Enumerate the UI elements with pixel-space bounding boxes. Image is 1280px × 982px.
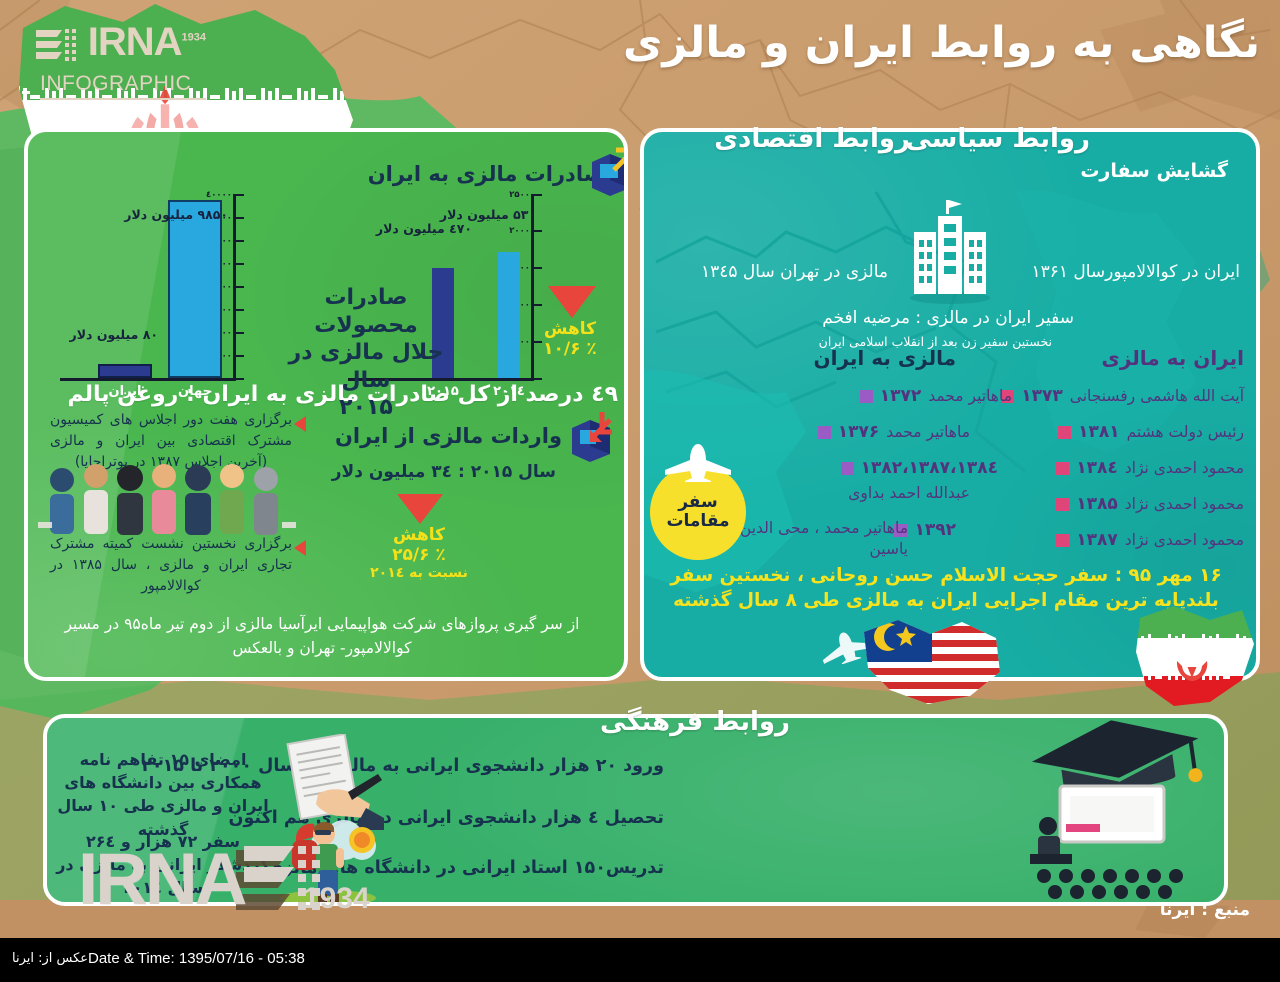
visit-row: ماهاتیر محمد ۱۳۷۲ <box>860 386 1012 406</box>
bar-iran-value: ۸۰ میلیون دلار <box>92 328 158 342</box>
column-title-malaysia-to-iran: مالزی به ایران <box>814 346 956 370</box>
culture-left-item-1: امضای ۱۵ تفاهم نامه همکاری بین دانشگاه ه… <box>52 748 274 841</box>
irna-wordmark-year: 1934 <box>182 32 206 44</box>
irna-infographic-logo: IRNA1934 <box>26 24 206 100</box>
airasia-flights-note: از سر گیری پروازهای شرکت هواپیمایی ایرآس… <box>62 612 582 660</box>
visit-marker-icon <box>841 462 854 475</box>
embassy-iran-in-kl: ایران در کوالالامپورسال ۱۳۶۱ <box>1031 262 1240 282</box>
embassy-opening-title: گشایش سفارت <box>1080 160 1228 182</box>
decrease-arrow-icon <box>544 284 600 324</box>
bar-world-value: ۹۸۵۰ میلیون دلار <box>162 208 228 222</box>
footer-irna-year: 1934 <box>303 882 370 916</box>
visit-person: محمود احمدی نژاد <box>1125 495 1244 513</box>
visit-marker-icon <box>1058 426 1071 439</box>
visit-person: محمود احمدی نژاد <box>1125 531 1244 549</box>
visit-year: ۱۳۸۵ <box>1076 494 1118 514</box>
economic-relations-panel: ۰ ۵۰۰۰ ۱۰۰۰۰ ۱۵۰۰۰ ۲۰۰۰۰ ۲۵۰۰۰ ۳۰۰۰۰ ۳۵۰… <box>24 128 628 681</box>
ambassador-line: سفیر ایران در مالزی : مرضیه افخم <box>822 308 1074 328</box>
visit-marker-icon <box>1056 462 1069 475</box>
visit-person: ماهاتیر محمد <box>928 387 1012 405</box>
photo-credit-label: عکس از: ایرنا <box>12 951 88 966</box>
economic-panel-header: روابط اقتصادی <box>714 124 910 154</box>
bar-world <box>168 200 222 378</box>
visit-year: ۱۳۷۲ <box>880 386 922 406</box>
visit-year: ۱۳۸۱ <box>1078 422 1120 442</box>
ytick-label: ٤۰۰۰۰ <box>192 190 232 200</box>
date-time-label: Date & Time: 1395/07/16 - 05:38 <box>88 950 305 967</box>
visit-row: محمود احمدی نژاد ۱۳۸۵ <box>1056 494 1244 514</box>
visit-year: ۱۳۷۶ <box>838 422 880 442</box>
visit-person: محمود احمدی نژاد <box>1125 459 1244 477</box>
irna-mark-icon <box>36 24 82 70</box>
irna-infographic-label: INFOGRAPHIC <box>40 72 206 100</box>
visit-person: ماهاتیر محمد ، محی الدین یاسین <box>728 518 908 560</box>
exports-to-iran-title: صادرات مالزی به ایران <box>368 162 604 186</box>
visit-year: ۱۳۸۲،۱۳۸۷،۱۳۸٤ <box>861 458 998 478</box>
political-relations-panel: گشایش سفارت <box>640 128 1260 681</box>
embassy-building-icon <box>902 194 998 304</box>
bar-2014-value: ۵۳۰ میلیون دلار <box>480 208 536 222</box>
visit-marker-icon <box>860 390 873 403</box>
visit-year: ۱۳۹۲ <box>914 520 956 540</box>
bar-iran <box>98 364 152 378</box>
ytick-label: ۲۰۰۰ <box>492 226 530 236</box>
visit-row: ۱۳۸۲،۱۳۸۷،۱۳۸٤ <box>841 458 998 478</box>
visit-person: رئیس دولت هشتم <box>1127 423 1244 441</box>
officials-trips-badge: سفر مقامات <box>650 464 746 560</box>
halal-chart-title: صادرات محصولات حلال مالزی در سال ۲۰۱۵ <box>286 284 446 422</box>
infographic-canvas: نگاهی به روابط ایران و مالزی IRNA1934 <box>0 0 1280 982</box>
badge-line-2: مقامات <box>666 512 729 531</box>
visit-year: ۱۳۸۷ <box>1076 530 1118 550</box>
badge-line-1: سفر <box>678 493 718 512</box>
visit-marker-icon <box>818 426 831 439</box>
malaysia-flag-map-graphic <box>858 612 1008 708</box>
visit-row: آیت الله هاشمی رفسنجانی ۱۳۷۳ <box>1001 386 1244 406</box>
visit-marker-icon <box>1056 534 1069 547</box>
import-box-icon <box>568 410 620 462</box>
page-title: نگاهی به روابط ایران و مالزی <box>623 18 1260 68</box>
visit-marker-icon <box>1056 498 1069 511</box>
visit-row: رئیس دولت هشتم ۱۳۸۱ <box>1058 422 1244 442</box>
cultural-panel-header: روابط فرهنگی <box>600 707 790 737</box>
bar-2014 <box>498 252 520 378</box>
irna-wordmark: IRNA1934 <box>88 24 206 61</box>
ytick-label: ۲۵۰۰ <box>492 190 530 200</box>
column-title-iran-to-malaysia: ایران به مالزی <box>1102 346 1244 370</box>
airplane-icon <box>659 442 737 486</box>
bar-2015-value: ٤۷۰ میلیون دلار <box>416 222 472 236</box>
political-panel-header: روابط سیاسی <box>905 124 1090 154</box>
iran-flag-map-graphic-2 <box>1130 604 1260 710</box>
visit-person: عبدالله احمد بداوی <box>848 484 970 502</box>
visit-row: محمود احمدی نژاد ۱۳۸۷ <box>1056 530 1244 550</box>
imports-from-iran-title: واردات مالزی از ایران <box>335 424 562 448</box>
visit-person: آیت الله هاشمی رفسنجانی <box>1070 387 1244 405</box>
source-label: منبع : ایرنا <box>1160 900 1250 920</box>
visit-row: محمود احمدی نژاد ۱۳۸٤ <box>1056 458 1244 478</box>
lecture-desk-illustration <box>1026 780 1216 900</box>
visit-year: ۱۳۷۳ <box>1021 386 1063 406</box>
irna-wordmark-text: IRNA <box>88 20 182 64</box>
visit-person: ماهاتیر محمد <box>886 423 970 441</box>
visit-row: ماهاتیر محمد ۱۳۷۶ <box>818 422 970 442</box>
meeting-people-illustration <box>38 462 296 546</box>
exports-decrease-text: کاهش ٪ ۱۰/۶ <box>534 320 606 359</box>
embassy-malaysia-in-tehran: مالزی در تهران سال ۱۳٤۵ <box>701 262 888 282</box>
imports-decrease-text: کاهش ٪ ۲۵/۶ نسبت به ۲۰۱٤ <box>364 526 474 581</box>
footer-irna-wordmark: IRNA <box>78 843 244 916</box>
visit-year: ۱۳۸٤ <box>1076 458 1118 478</box>
bottom-status-bar: عکس از: ایرنا Date & Time: 1395/07/16 - … <box>0 938 1280 982</box>
imports-value-text: سال ۲۰۱۵ : ۳٤ میلیون دلار <box>332 462 556 482</box>
